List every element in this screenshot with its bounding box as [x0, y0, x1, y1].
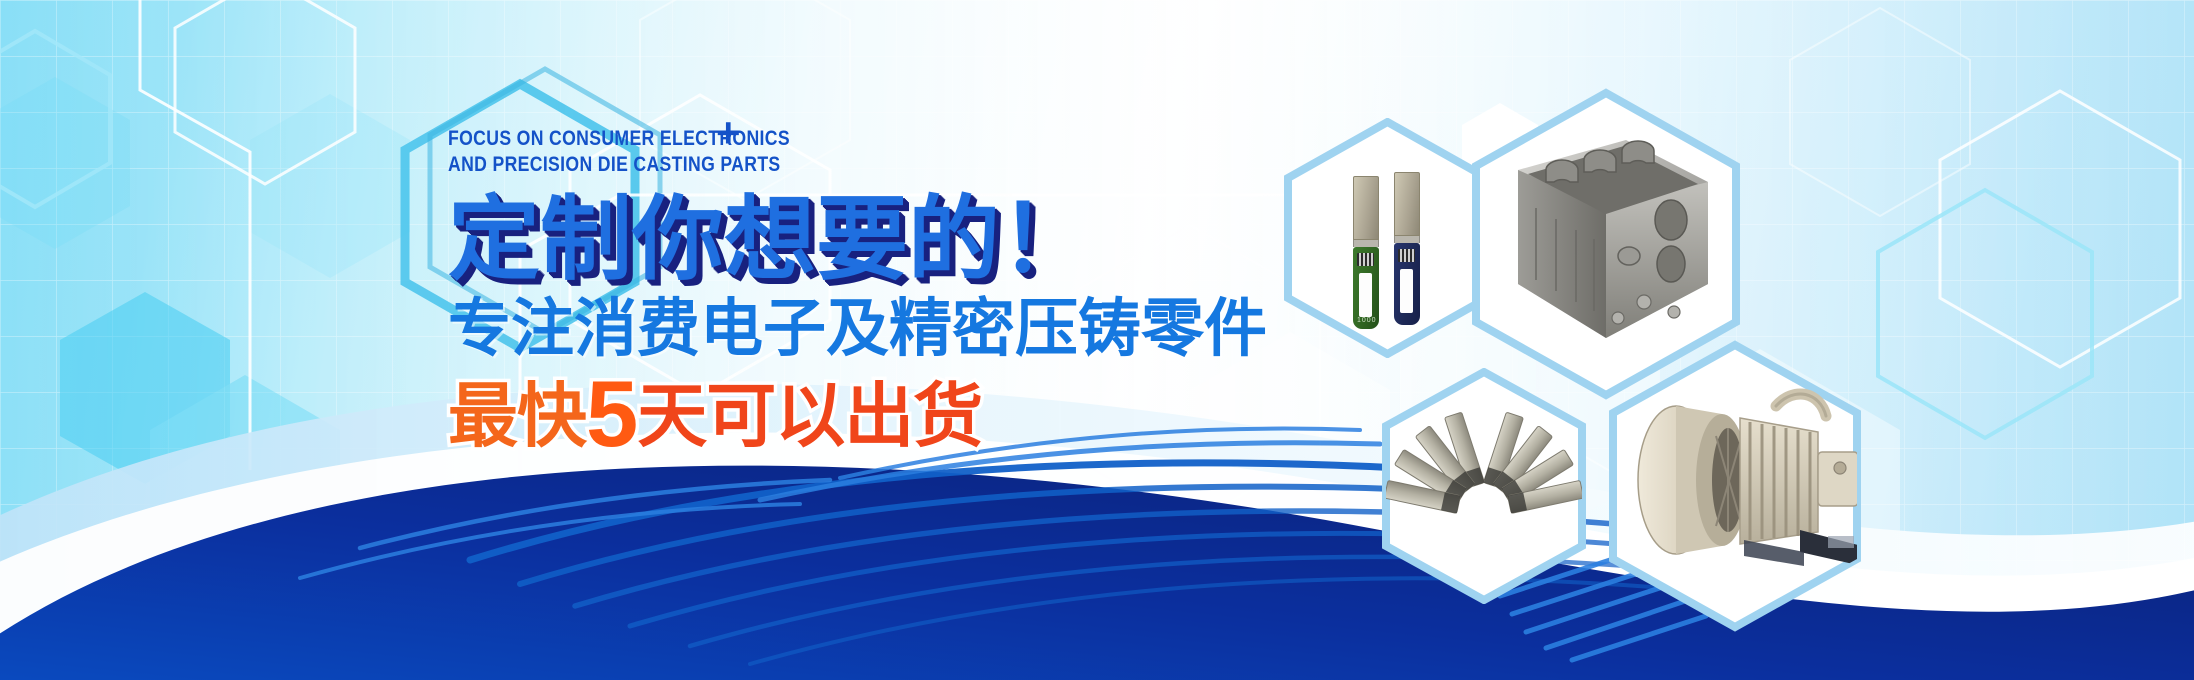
sfp-module-green: 1000: [1353, 176, 1379, 329]
product-hex-motor-housing-assembly[interactable]: 电机外壳总成: [1604, 340, 1866, 632]
promo-prefix: 最快: [448, 377, 586, 455]
headline-block: FOCUS ON CONSUMER ELECTRONICS AND PRECIS…: [448, 126, 1168, 456]
product-photo-motor-housing-assembly: [1638, 394, 1862, 566]
promo-number: 5: [586, 361, 637, 466]
subtitle: 专注消费电子及精密压铸零件: [448, 294, 1168, 364]
sfp-module-navy: [1394, 172, 1420, 325]
tagline-line-2: AND PRECISION DIE CASTING PARTS: [448, 152, 1053, 178]
product-hex-connector-shield-parts[interactable]: 连接器屏蔽件: [1378, 368, 1590, 604]
product-photo-optical-transceiver-modules: 1000: [1280, 118, 1495, 358]
promo-text: 最快5天可以出货: [448, 374, 1168, 456]
tagline: FOCUS ON CONSUMER ELECTRONICS AND PRECIS…: [448, 126, 1168, 178]
plus-icon: +: [716, 112, 741, 154]
tagline-line-1: FOCUS ON CONSUMER ELECTRONICS: [448, 126, 1053, 152]
product-hex-optical-transceiver-modules[interactable]: 1000 光模块: [1280, 118, 1495, 358]
promo-suffix: 天可以出货: [637, 377, 982, 455]
page-title: 定制你想要的！: [448, 192, 1168, 288]
hex-frame: [1604, 340, 1866, 632]
hex-frame: [1378, 368, 1590, 604]
promo-banner: FOCUS ON CONSUMER ELECTRONICS AND PRECIS…: [0, 0, 2194, 680]
